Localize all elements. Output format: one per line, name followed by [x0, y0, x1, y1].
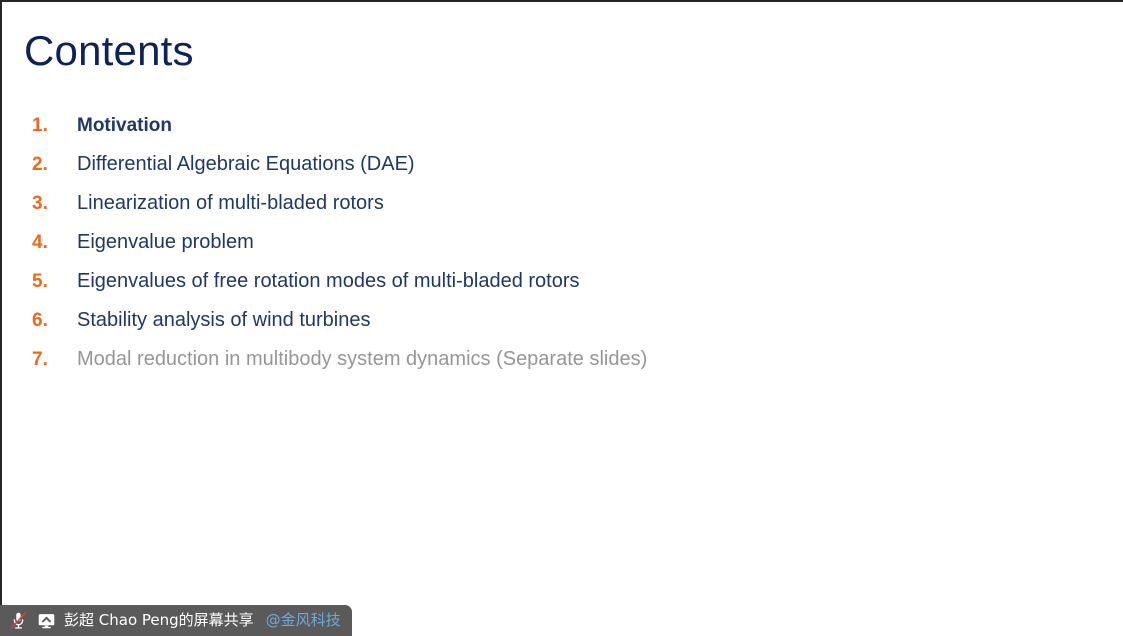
- list-item[interactable]: 7. Modal reduction in multibody system d…: [2, 340, 1102, 379]
- page-title: Contents: [24, 26, 194, 76]
- list-item[interactable]: 2. Differential Algebraic Equations (DAE…: [2, 145, 1102, 184]
- screen-share-icon[interactable]: [36, 611, 56, 631]
- list-item[interactable]: 5. Eigenvalues of free rotation modes of…: [2, 262, 1102, 301]
- presentation-slide: Contents 1. Motivation 2. Differential A…: [0, 0, 1123, 636]
- list-item-label: Linearization of multi-bladed rotors: [77, 184, 384, 223]
- list-item[interactable]: 3. Linearization of multi-bladed rotors: [2, 184, 1102, 223]
- list-item-number: 2.: [32, 145, 62, 184]
- list-item-label: Motivation: [77, 106, 172, 145]
- list-item-label: Differential Algebraic Equations (DAE): [77, 145, 415, 184]
- list-item-number: 1.: [32, 106, 62, 145]
- list-item-number: 7.: [32, 340, 62, 379]
- list-item[interactable]: 6. Stability analysis of wind turbines: [2, 301, 1102, 340]
- list-item-label: Stability analysis of wind turbines: [77, 301, 370, 340]
- list-item-label: Eigenvalues of free rotation modes of mu…: [77, 262, 580, 301]
- contents-list: 1. Motivation 2. Differential Algebraic …: [2, 106, 1102, 379]
- screen-share-status-bar[interactable]: 彭超 Chao Peng的屏幕共享 @金风科技: [0, 605, 352, 636]
- list-item-number: 6.: [32, 301, 62, 340]
- list-item[interactable]: 4. Eigenvalue problem: [2, 223, 1102, 262]
- share-status-text: 彭超 Chao Peng的屏幕共享: [64, 605, 254, 636]
- microphone-muted-icon[interactable]: [8, 611, 28, 631]
- list-item-label: Modal reduction in multibody system dyna…: [77, 340, 647, 379]
- list-item-number: 5.: [32, 262, 62, 301]
- share-host-handle: @金风科技: [266, 605, 341, 636]
- list-item-number: 3.: [32, 184, 62, 223]
- list-item[interactable]: 1. Motivation: [2, 106, 1102, 145]
- list-item-number: 4.: [32, 223, 62, 262]
- list-item-label: Eigenvalue problem: [77, 223, 254, 262]
